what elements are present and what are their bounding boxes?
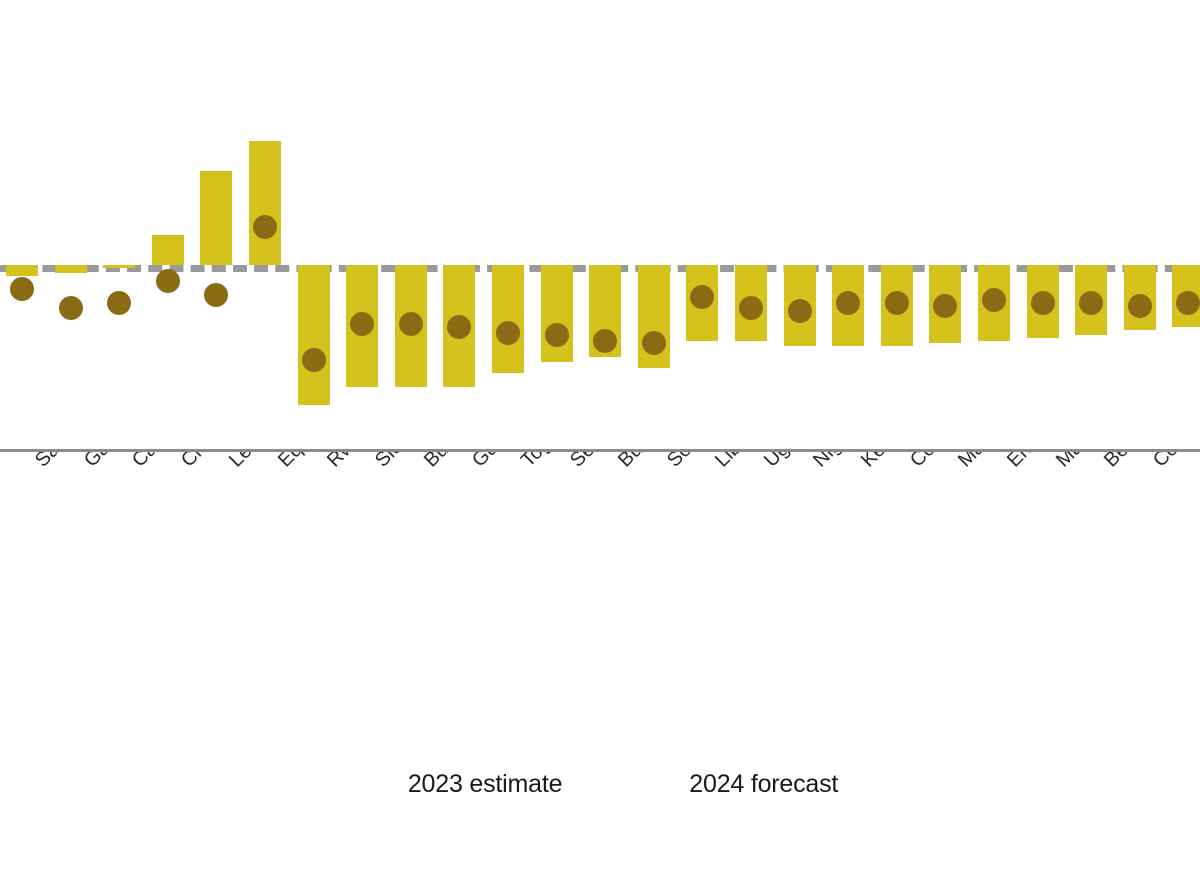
dot-2024-forecast — [1079, 291, 1103, 315]
dot-2024-forecast — [885, 291, 909, 315]
chart-legend: 2023 estimate 2024 forecast — [0, 752, 1200, 816]
bar-chart: São Tomé and PríncipeGabonCabo VerdeChad… — [0, 0, 1200, 888]
dot-2024-forecast — [1176, 291, 1200, 315]
x-tick-label: Comoros — [1149, 452, 1200, 472]
x-tick-label: Mali — [1052, 452, 1094, 472]
dot-2024-forecast — [642, 331, 666, 355]
dot-2024-forecast — [739, 296, 763, 320]
legend-label-2024: 2024 forecast — [689, 770, 838, 799]
x-axis-tick-labels: São Tomé and PríncipeGabonCabo VerdeChad… — [0, 452, 1200, 732]
legend-entry-2024: 2024 forecast — [644, 770, 838, 799]
bar-2023-estimate — [55, 265, 87, 273]
x-tick-label: Chad — [177, 452, 227, 472]
bar-2023-estimate — [6, 265, 38, 276]
dot-2024-forecast — [1031, 291, 1055, 315]
x-tick-label: Benin — [1100, 452, 1152, 472]
dot-2024-forecast — [496, 321, 520, 345]
bar-2023-estimate — [298, 265, 330, 405]
dot-2024-forecast — [982, 288, 1006, 312]
legend-label-2023: 2023 estimate — [408, 770, 562, 799]
dot-2024-forecast — [593, 329, 617, 353]
dot-2024-forecast — [302, 348, 326, 372]
dot-2024-forecast — [836, 291, 860, 315]
circle-marker-icon — [644, 770, 673, 799]
dot-2024-forecast — [933, 294, 957, 318]
dot-2024-forecast — [156, 269, 180, 293]
bar-2023-estimate — [492, 265, 524, 373]
x-axis-line — [0, 449, 1200, 452]
bar-2023-estimate — [152, 235, 184, 265]
dot-2024-forecast — [788, 299, 812, 323]
dot-2024-forecast — [59, 296, 83, 320]
bar-2023-estimate — [103, 265, 135, 268]
x-tick-label: Togo — [517, 452, 564, 472]
plot-area — [0, 0, 1200, 452]
bar-2023-estimate — [200, 171, 232, 266]
square-swatch-icon — [362, 769, 392, 799]
dot-2024-forecast — [253, 215, 277, 239]
dot-2024-forecast — [10, 277, 34, 301]
legend-entry-2023: 2023 estimate — [362, 769, 562, 799]
bar-2023-estimate — [249, 141, 281, 265]
dot-2024-forecast — [1128, 294, 1152, 318]
bar-2023-estimate — [541, 265, 573, 362]
dot-2024-forecast — [545, 323, 569, 347]
dot-2024-forecast — [107, 291, 131, 315]
dot-2024-forecast — [204, 283, 228, 307]
